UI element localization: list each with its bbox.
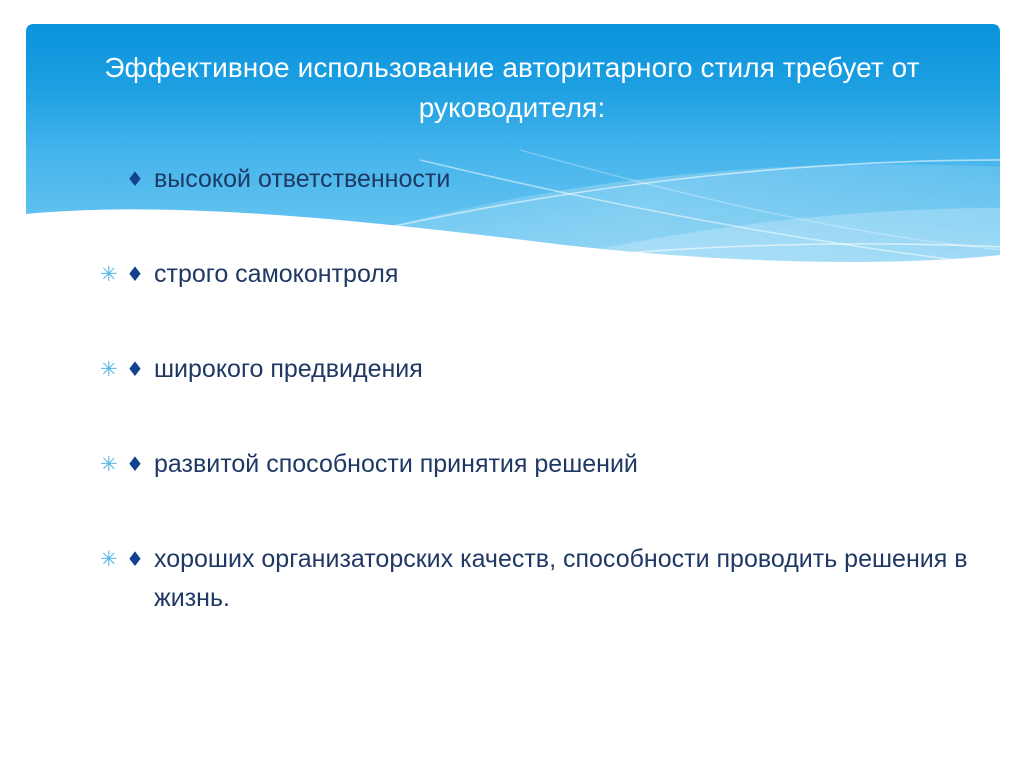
list-item: ✳ ♦ широкого предвидения	[100, 350, 980, 445]
list-item-label: хороших организаторских качеств, способн…	[152, 540, 980, 618]
list-item: ✳ ♦ развитой способности принятия решени…	[100, 445, 980, 540]
asterisk-icon: ✳	[100, 255, 126, 293]
bullet-list: ✳ ♦ высокой ответственности ✳ ♦ строго с…	[100, 160, 980, 650]
page-title: Эффективное использование авторитарного …	[60, 48, 964, 128]
asterisk-icon: ✳	[100, 445, 126, 483]
diamond-icon: ♦	[126, 255, 152, 293]
asterisk-icon: ✳	[100, 350, 126, 388]
list-item: ✳ ♦ высокой ответственности	[100, 160, 980, 255]
list-item: ✳ ♦ хороших организаторских качеств, спо…	[100, 540, 980, 650]
list-item-label: широкого предвидения	[152, 350, 980, 389]
list-item-label: высокой ответственности	[152, 160, 980, 199]
diamond-icon: ♦	[126, 350, 152, 388]
slide-canvas: Эффективное использование авторитарного …	[0, 0, 1024, 768]
diamond-icon: ♦	[126, 540, 152, 578]
list-item-label: строго самоконтроля	[152, 255, 980, 294]
list-item-label: развитой способности принятия решений	[152, 445, 980, 484]
diamond-icon: ♦	[126, 160, 152, 198]
asterisk-icon: ✳	[100, 540, 126, 578]
diamond-icon: ♦	[126, 445, 152, 483]
asterisk-icon: ✳	[100, 160, 126, 198]
list-item: ✳ ♦ строго самоконтроля	[100, 255, 980, 350]
